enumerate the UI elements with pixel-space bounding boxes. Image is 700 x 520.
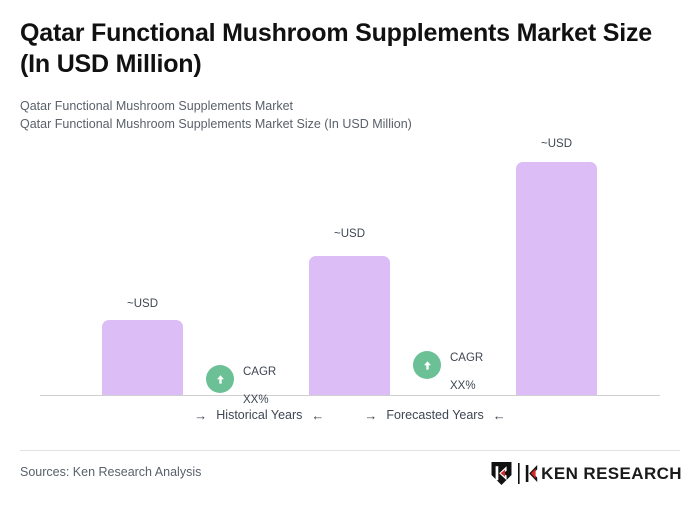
brand-logo: KEN RESEARCH bbox=[490, 461, 682, 486]
cagr-line-2: XX% bbox=[243, 394, 269, 406]
period-historical: → Historical Years ← bbox=[194, 408, 324, 422]
arrow-left-icon: ← bbox=[493, 409, 506, 422]
bar-value-label-1: ~USD XX Mn bbox=[102, 283, 183, 339]
subtitle-line-2: Qatar Functional Mushroom Supplements Ma… bbox=[20, 115, 660, 133]
cagr-badge-2: CAGR XX% bbox=[413, 337, 483, 393]
bar-1[interactable] bbox=[102, 320, 183, 395]
sources-note: Sources: Ken Research Analysis bbox=[20, 465, 201, 479]
cagr-badge-1: CAGR XX% bbox=[206, 351, 276, 407]
ken-research-shield-icon bbox=[490, 461, 513, 486]
footer-divider bbox=[20, 450, 680, 451]
period-forecasted-label: Forecasted Years bbox=[386, 408, 483, 422]
bar-value-line-2: XX Mn bbox=[125, 326, 160, 338]
brand-divider-icon bbox=[517, 463, 521, 484]
cagr-label-1: CAGR XX% bbox=[243, 351, 276, 407]
arrow-up-icon bbox=[413, 351, 441, 379]
bar-value-label-2: ~USD 60 Mn bbox=[309, 213, 390, 269]
bar-value-line-1: ~USD bbox=[334, 228, 365, 240]
arrow-up-icon bbox=[206, 365, 234, 393]
brand-k-accent-icon bbox=[525, 464, 538, 483]
page-title: Qatar Functional Mushroom Supplements Ma… bbox=[20, 18, 660, 80]
subtitle-block: Qatar Functional Mushroom Supplements Ma… bbox=[20, 97, 660, 133]
period-historical-label: Historical Years bbox=[216, 408, 302, 422]
bar-value-line-1: ~USD bbox=[541, 138, 572, 150]
arrow-right-icon: → bbox=[364, 409, 377, 422]
brand-name: KEN RESEARCH bbox=[541, 464, 682, 484]
cagr-line-1: CAGR bbox=[450, 352, 483, 364]
bar-2[interactable] bbox=[309, 256, 390, 395]
cagr-line-1: CAGR bbox=[243, 366, 276, 378]
subtitle-line-1: Qatar Functional Mushroom Supplements Ma… bbox=[20, 97, 660, 115]
bar-3[interactable] bbox=[516, 162, 597, 395]
chart-page: Qatar Functional Mushroom Supplements Ma… bbox=[0, 0, 700, 520]
period-forecasted: → Forecasted Years ← bbox=[364, 408, 505, 422]
arrow-left-icon: ← bbox=[311, 409, 324, 422]
cagr-label-2: CAGR XX% bbox=[450, 337, 483, 393]
axis-baseline bbox=[40, 395, 660, 396]
arrow-right-icon: → bbox=[194, 409, 207, 422]
period-labels: → Historical Years ← → Forecasted Years … bbox=[40, 408, 660, 422]
bar-value-line-2: XX Mn bbox=[539, 166, 574, 178]
bar-value-line-1: ~USD bbox=[127, 298, 158, 310]
cagr-line-2: XX% bbox=[450, 380, 476, 392]
bar-value-line-2: 60 Mn bbox=[334, 256, 366, 268]
chart-header: Qatar Functional Mushroom Supplements Ma… bbox=[20, 18, 660, 133]
